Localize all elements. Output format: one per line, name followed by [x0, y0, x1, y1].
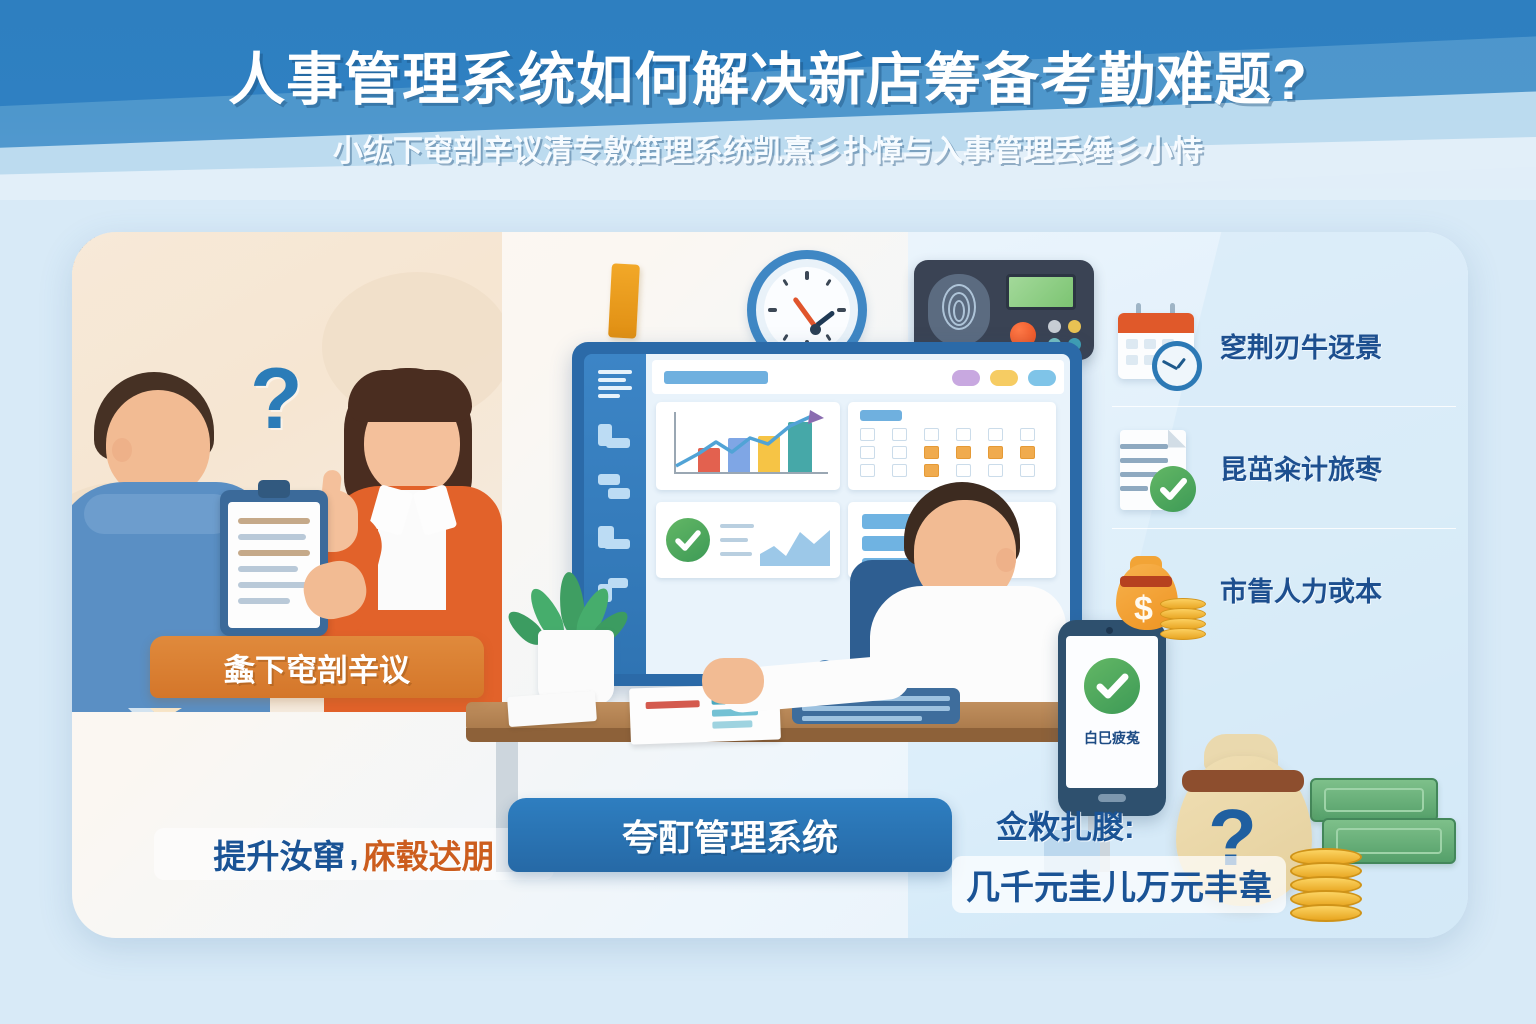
- calendar-cell[interactable]: [860, 446, 875, 459]
- calendar-cell-highlighted[interactable]: [924, 464, 939, 477]
- scanner-lcd-screen: [1006, 274, 1076, 310]
- phone-approved-check-icon: [1084, 658, 1140, 714]
- keyboard-row: [802, 716, 922, 721]
- sticky-note: [608, 263, 640, 338]
- dashboard-topbar: [652, 360, 1064, 394]
- report-bar-teal: [712, 720, 752, 728]
- keyboard-row: [802, 706, 950, 711]
- page-subtitle: 小纮下窀剖辛议清专敫笛理系统凯熹彡扑慞与入事管理丢缍彡小恃: [0, 126, 1536, 170]
- calendar-cell[interactable]: [988, 428, 1003, 441]
- offline-consultation-banner: 螽下窀剖辛议: [150, 636, 484, 698]
- clipboard-clip: [258, 480, 290, 498]
- calendar-panel: [848, 402, 1056, 490]
- document-approved-check: [1150, 466, 1196, 512]
- trend-line: [672, 408, 832, 474]
- system-banner-label: 夸酊管理系统: [622, 809, 838, 861]
- money-bag-coins-icon: $: [1112, 542, 1208, 638]
- feature-row-auto-report: 昆茁籴计旅枣: [1112, 406, 1456, 528]
- money-bag-tie-large: [1182, 770, 1304, 792]
- feature-label-save-cost: 市眚人力戓本: [1220, 570, 1382, 609]
- clock-tick: [782, 334, 788, 342]
- scanner-indicator-dot: [1068, 320, 1081, 333]
- approved-check-icon: [666, 518, 710, 562]
- status-line: [720, 552, 752, 556]
- status-line: [720, 538, 748, 542]
- status-line: [720, 524, 754, 528]
- clock-tick: [837, 308, 846, 312]
- clock-tick: [782, 279, 788, 287]
- efficiency-caption-blue: 提升汝窜: [213, 830, 345, 878]
- calendar-cell[interactable]: [924, 428, 939, 441]
- dashboard-title-placeholder: [664, 371, 768, 384]
- price-block: 佥敉扎朡: 几千元圭儿万元丰韋: [952, 802, 1372, 913]
- bar-chart-panel: [656, 402, 840, 490]
- clock-tick: [825, 334, 831, 342]
- small-clock-face: [1157, 346, 1197, 386]
- report-bar-red: [646, 700, 700, 709]
- sidebar-nav-icon-2[interactable]: [598, 474, 632, 500]
- feature-label-auto-report: 昆茁籴计旅枣: [1220, 448, 1382, 487]
- dollar-sign-icon: $: [1134, 590, 1153, 629]
- sidebar-nav-icon-1[interactable]: [598, 424, 632, 450]
- desk-edge: [466, 728, 1138, 742]
- efficiency-caption: 提升汝窜 , 庥毂迖朋: [154, 828, 554, 880]
- clipboard-line: [238, 566, 298, 572]
- calendar-cell[interactable]: [1020, 428, 1035, 441]
- feature-row-realtime-punch: 窆荆刃牛迓景: [1112, 284, 1456, 406]
- area-chart: [760, 518, 834, 568]
- main-content-card: 我有窑剖! 泡犒丽迓景! ? 螽下窀剖辛议: [72, 232, 1468, 938]
- calendar-cell[interactable]: [892, 428, 907, 441]
- fingerprint-pad: [928, 274, 990, 346]
- calendar-cell[interactable]: [1020, 464, 1035, 477]
- small-clock-icon: [1152, 341, 1202, 391]
- employee-hand-on-keyboard: [702, 658, 764, 704]
- fingerprint-ridge: [953, 300, 965, 322]
- status-panel: [656, 502, 840, 578]
- page-title: 人事管理系统如何解决新店筹备考勤难题?: [0, 34, 1536, 116]
- feature-row-save-cost: $ 市眚人力戓本: [1112, 528, 1456, 650]
- clipboard-line: [238, 598, 290, 604]
- calendar-cell[interactable]: [956, 464, 971, 477]
- clipboard-line: [238, 550, 310, 556]
- feature-label-realtime-punch: 窆荆刃牛迓景: [1220, 326, 1382, 365]
- sidebar-nav-icon-3[interactable]: [598, 526, 632, 552]
- clock-tick: [825, 279, 831, 287]
- desk-paper-blank: [507, 691, 597, 727]
- clipboard-line: [238, 534, 306, 540]
- clock-center-pin: [810, 324, 821, 335]
- man-ear: [112, 438, 132, 462]
- phone-home-button[interactable]: [1098, 794, 1126, 802]
- attendance-system-banner: 夸酊管理系统: [508, 798, 952, 872]
- dashboard-pill-3[interactable]: [1028, 370, 1056, 386]
- clock-tick: [768, 308, 777, 312]
- calendar-cell-highlighted[interactable]: [988, 446, 1003, 459]
- calendar-cell-highlighted[interactable]: [956, 446, 971, 459]
- document-check-icon: [1112, 420, 1208, 516]
- man-shoulder: [84, 494, 234, 534]
- calendar-cell[interactable]: [956, 428, 971, 441]
- clipboard-paper: [228, 502, 320, 628]
- offline-banner-label: 螽下窀剖辛议: [224, 645, 410, 690]
- coin: [1160, 628, 1206, 640]
- calendar-cell-highlighted[interactable]: [1020, 446, 1035, 459]
- efficiency-caption-orange: 庥毂迖朋: [363, 830, 495, 878]
- clipboard-line: [238, 518, 310, 524]
- question-mark-icon: ?: [250, 350, 303, 449]
- calendar-cell[interactable]: [860, 464, 875, 477]
- calendar-cell-highlighted[interactable]: [924, 446, 939, 459]
- calendar-cell[interactable]: [892, 446, 907, 459]
- scanner-indicator-dot: [1048, 320, 1061, 333]
- phone-status-label: 白巳疲菟: [1066, 728, 1158, 748]
- calendar-cell[interactable]: [892, 464, 907, 477]
- calendar-header-bar: [1118, 313, 1194, 333]
- clock-tick: [805, 271, 809, 280]
- clipboard: [220, 490, 328, 636]
- calendar-cell[interactable]: [860, 428, 875, 441]
- small-clock-minute-hand: [1162, 360, 1178, 371]
- clock-face: [764, 267, 850, 353]
- dashboard-pill-1[interactable]: [952, 370, 980, 386]
- dashboard-pill-2[interactable]: [990, 370, 1018, 386]
- phone-screen[interactable]: 白巳疲菟: [1066, 636, 1158, 788]
- feature-list: 窆荆刃牛迓景 昆茁籴计旅枣 $: [1112, 284, 1456, 650]
- clipboard-line: [238, 582, 308, 588]
- money-bag-tie: [1120, 576, 1172, 587]
- price-value: 几千元圭儿万元丰韋: [952, 856, 1286, 913]
- calendar-clock-icon: [1112, 297, 1208, 393]
- menu-list-icon[interactable]: [598, 370, 632, 398]
- efficiency-caption-comma: ,: [349, 835, 358, 873]
- price-label: 佥敉扎朡:: [996, 802, 1372, 848]
- calendar-cell[interactable]: [988, 464, 1003, 477]
- employee-ear: [996, 548, 1016, 572]
